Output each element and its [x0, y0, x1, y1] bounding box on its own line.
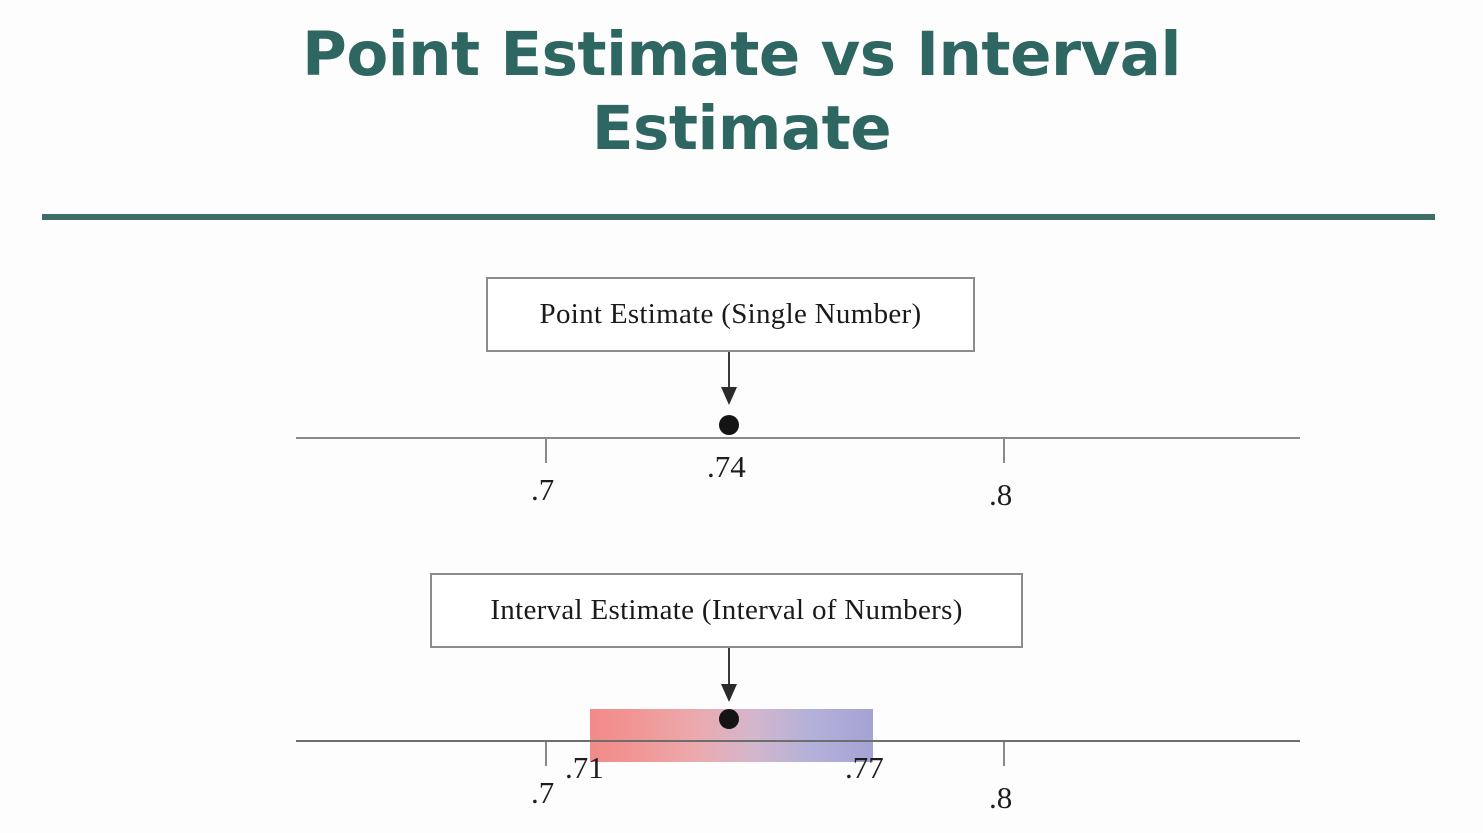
slide-canvas: { "title": { "line1": "Point Estimate vs…: [0, 0, 1483, 833]
interval-estimate-tick-label-high: .8: [989, 780, 1012, 816]
point-estimate-tick-high: [1003, 439, 1005, 463]
interval-estimate-number-line: [296, 740, 1300, 742]
point-estimate-arrow-shaft: [728, 352, 730, 389]
point-estimate-dot: [719, 415, 739, 435]
interval-estimate-center-dot: [719, 709, 739, 729]
interval-estimate-tick-high: [1003, 742, 1005, 766]
point-estimate-arrow-head-icon: [721, 387, 737, 405]
point-estimate-value-label: .74: [707, 449, 746, 485]
point-estimate-tick-label-low: .7: [531, 472, 554, 508]
interval-estimate-arrow-shaft: [728, 648, 730, 686]
title-divider: [42, 214, 1435, 220]
point-estimate-callout-label: Point Estimate (Single Number): [540, 298, 922, 331]
interval-estimate-tick-low: [545, 742, 547, 766]
point-estimate-callout-box: Point Estimate (Single Number): [486, 277, 975, 352]
interval-estimate-tick-label-low: .7: [531, 775, 554, 811]
point-estimate-tick-label-high: .8: [989, 477, 1012, 513]
point-estimate-tick-low: [545, 439, 547, 463]
page-title-line-1: Point Estimate vs Interval: [0, 18, 1483, 92]
interval-estimate-upper-bound-label: .77: [845, 750, 884, 786]
interval-estimate-lower-bound-label: .71: [565, 750, 604, 786]
page-title: Point Estimate vs Interval Estimate: [0, 18, 1483, 166]
interval-estimate-callout-label: Interval Estimate (Interval of Numbers): [490, 594, 962, 627]
page-title-line-2: Estimate: [0, 92, 1483, 166]
point-estimate-number-line: [296, 437, 1300, 439]
interval-estimate-arrow-head-icon: [721, 684, 737, 702]
interval-estimate-callout-box: Interval Estimate (Interval of Numbers): [430, 573, 1023, 648]
